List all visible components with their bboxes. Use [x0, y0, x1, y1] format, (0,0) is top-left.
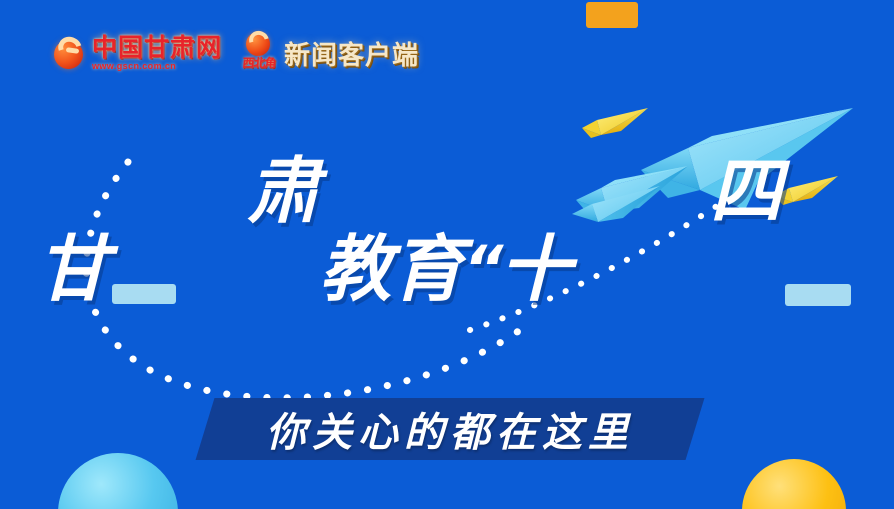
- flame-swirl-icon-secondary: 西北角: [240, 32, 278, 74]
- title-char: 教: [318, 230, 390, 308]
- title-char: 十: [498, 230, 570, 308]
- title-char: 四: [570, 0, 780, 308]
- title-char-glyph: 肃: [247, 149, 317, 233]
- logo-secondary-name: 新闻客户端: [284, 35, 419, 72]
- title-char: 育: [390, 230, 462, 308]
- logo-primary-name: 中国甘肃网: [92, 35, 222, 60]
- title-char-glyph: 四: [710, 149, 780, 233]
- logo-china-gansu-net[interactable]: 中国甘肃网 www.gscn.com.cn: [52, 35, 222, 71]
- page-title: 甘 肃 教 育 “ 十 四 五 ” 规 划: [36, 222, 894, 308]
- logo-primary-url: www.gscn.com.cn: [92, 62, 222, 71]
- flame-swirl-icon: [52, 36, 86, 70]
- poster-root: 中国甘肃网 www.gscn.com.cn 西北角 新闻客户端 甘 肃 教 育 …: [0, 0, 894, 509]
- logo-secondary-badge: 西北角: [239, 54, 279, 71]
- site-logo-bar: 中国甘肃网 www.gscn.com.cn 西北角 新闻客户端: [52, 30, 419, 76]
- title-char: 五: [781, 0, 894, 308]
- title-char: 甘: [36, 230, 108, 308]
- logo-news-client[interactable]: 西北角 新闻客户端: [240, 32, 419, 74]
- subtitle-text: 你关心的都在这里: [205, 398, 695, 460]
- title-quote-open: “: [462, 230, 498, 308]
